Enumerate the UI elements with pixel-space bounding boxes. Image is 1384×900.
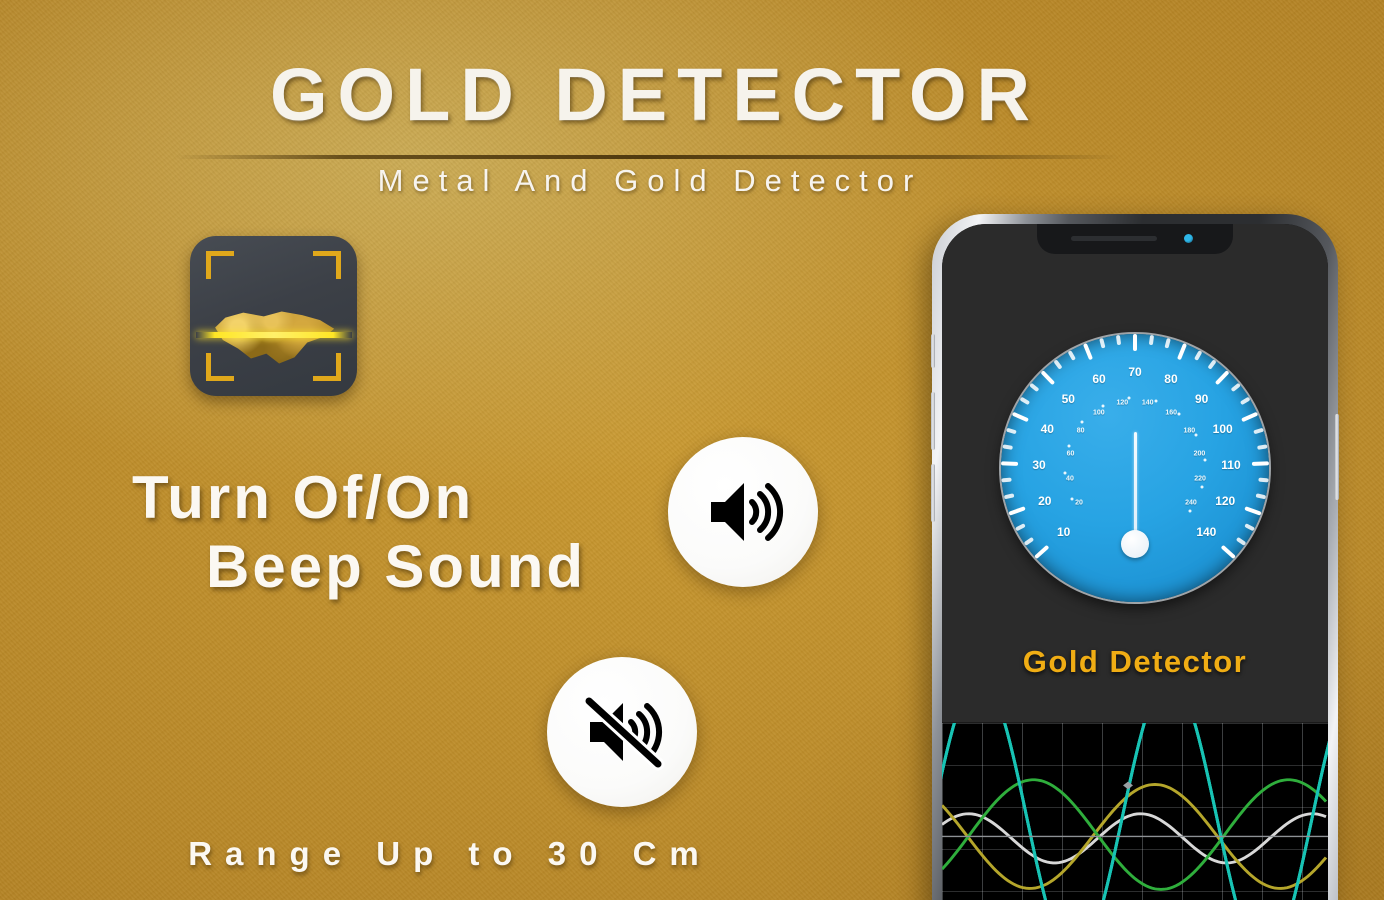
- volume-on-icon: [699, 468, 787, 556]
- gauge-scale-label: 10: [1057, 525, 1070, 539]
- gauge-inner-scale-label: 80: [1077, 427, 1085, 434]
- gauge-inner-dot: [1071, 497, 1074, 500]
- gauge-scale-label: 20: [1038, 494, 1051, 508]
- gauge-inner-scale-label: 240: [1185, 499, 1197, 506]
- earpiece-speaker-icon: [1071, 236, 1157, 241]
- gauge-scale-label: 80: [1164, 372, 1177, 386]
- phone-mockup: 1020304050607080901001101201402040608010…: [932, 214, 1338, 900]
- gauge-inner-scale-label: 120: [1116, 400, 1128, 407]
- scanner-bracket-top-left-icon: [206, 251, 234, 279]
- gauge-inner-dot: [1127, 397, 1130, 400]
- gauge-inner-scale-label: 20: [1075, 499, 1083, 506]
- phone-power-button[interactable]: [1335, 414, 1339, 500]
- scanner-bracket-bottom-left-icon: [206, 353, 234, 381]
- gauge-inner-scale-label: 220: [1194, 476, 1206, 483]
- front-camera-icon: [1184, 234, 1193, 243]
- beep-caption-line2: Beep Sound: [118, 532, 678, 601]
- gauge-scale-label: 110: [1221, 458, 1240, 472]
- volume-muted-icon: [578, 688, 666, 776]
- detector-gauge[interactable]: 1020304050607080901001101201402040608010…: [1001, 334, 1269, 602]
- gauge-scale-label: 30: [1032, 458, 1045, 472]
- scan-line-icon: [196, 332, 352, 338]
- phone-volume-down-button[interactable]: [931, 464, 935, 522]
- scanner-bracket-bottom-right-icon: [313, 353, 341, 381]
- gauge-inner-scale-label: 180: [1184, 427, 1196, 434]
- phone-mute-switch[interactable]: [931, 334, 935, 368]
- page-title: GOLD DETECTOR: [0, 52, 1310, 137]
- title-divider: [175, 155, 1120, 159]
- gauge-inner-dot: [1178, 412, 1181, 415]
- app-name-label: Gold Detector: [942, 644, 1328, 680]
- phone-bezel: 1020304050607080901001101201402040608010…: [942, 224, 1328, 900]
- phone-notch: [1037, 224, 1233, 254]
- beep-caption-line1: Turn Of/On: [118, 463, 678, 532]
- sound-off-button[interactable]: [547, 657, 697, 807]
- gauge-inner-scale-label: 160: [1165, 409, 1177, 416]
- gauge-inner-scale-label: 40: [1066, 476, 1074, 483]
- phone-screen: 1020304050607080901001101201402040608010…: [942, 224, 1328, 900]
- beep-sound-caption: Turn Of/On Beep Sound: [118, 463, 678, 601]
- gauge-inner-scale-label: 60: [1067, 450, 1075, 457]
- gauge-inner-scale-label: 100: [1093, 409, 1105, 416]
- gauge-inner-dot: [1189, 510, 1192, 513]
- page-subtitle: Metal And Gold Detector: [0, 163, 1300, 199]
- scanner-bracket-top-right-icon: [313, 251, 341, 279]
- gauge-hub: [1121, 530, 1149, 558]
- gauge-container: 1020304050607080901001101201402040608010…: [942, 334, 1328, 602]
- gauge-inner-dot: [1067, 444, 1070, 447]
- gauge-inner-dot: [1203, 459, 1206, 462]
- gauge-inner-dot: [1080, 421, 1083, 424]
- sound-on-button[interactable]: [668, 437, 818, 587]
- gauge-scale-label: 70: [1128, 365, 1141, 379]
- app-icon[interactable]: [190, 236, 357, 396]
- gauge-inner-dot: [1154, 400, 1157, 403]
- signal-graph: [942, 722, 1328, 900]
- phone-volume-up-button[interactable]: [931, 392, 935, 450]
- gauge-scale-label: 100: [1213, 422, 1233, 436]
- gauge-inner-scale-label: 200: [1194, 450, 1206, 457]
- gauge-scale-label: 140: [1196, 525, 1216, 539]
- gauge-scale-label: 50: [1062, 392, 1075, 406]
- gauge-inner-dot: [1201, 486, 1204, 489]
- graph-waves: [942, 723, 1328, 900]
- gauge-inner-scale-label: 140: [1142, 400, 1154, 407]
- gauge-scale-label: 60: [1092, 372, 1105, 386]
- range-caption: Range Up to 30 Cm: [0, 835, 900, 873]
- gauge-inner-dot: [1101, 404, 1104, 407]
- gauge-inner-dot: [1064, 471, 1067, 474]
- gauge-scale-label: 40: [1041, 422, 1054, 436]
- gauge-scale-label: 90: [1195, 392, 1208, 406]
- gauge-scale-label: 120: [1215, 494, 1235, 508]
- gauge-inner-dot: [1195, 433, 1198, 436]
